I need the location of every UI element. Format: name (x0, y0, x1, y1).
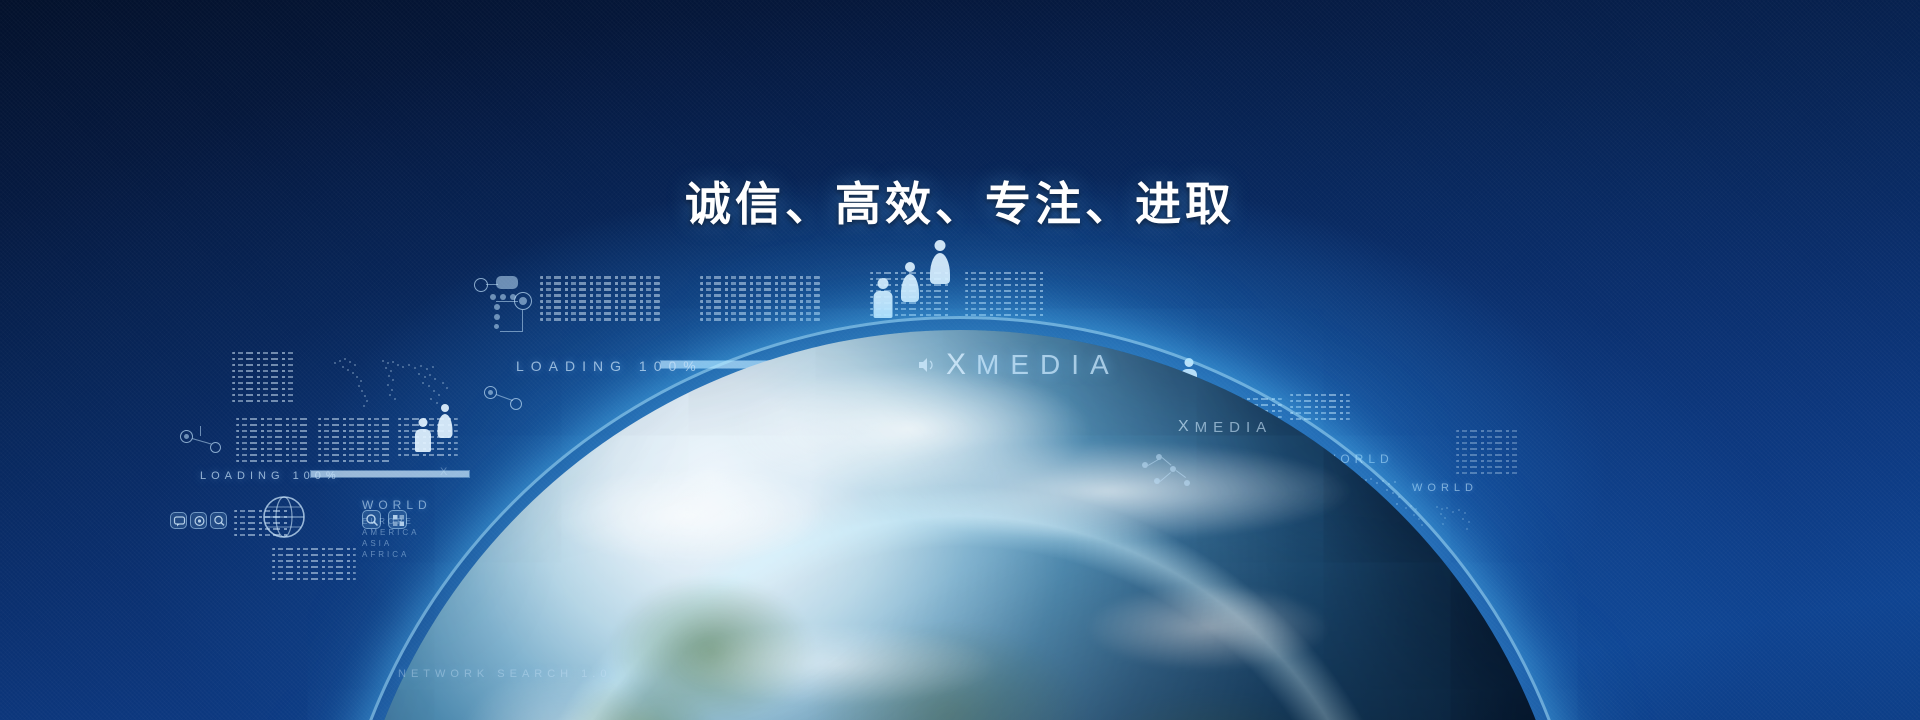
data-text-block (232, 352, 294, 412)
wire-globe-icon (262, 495, 306, 539)
media-brand: X MEDIA (918, 348, 1120, 382)
node-graph-icon (484, 382, 530, 418)
media-brand-mark: X (946, 348, 966, 382)
media-brand-small: X (440, 466, 452, 478)
media-brand-small-mark: X (440, 466, 452, 478)
page-title: 诚信、高效、专注、进取 (0, 168, 1920, 234)
data-text-block (540, 276, 660, 324)
node-graph-icon (470, 270, 540, 340)
hero-banner: 诚信、高效、专注、进取 LO (0, 0, 1920, 720)
loading-label-bottom: LOADING 100% (200, 470, 341, 482)
node-graph-icon (1140, 448, 1210, 508)
chat-bubble-icon[interactable] (170, 512, 187, 529)
media-brand-small-right: X MEDIA (1178, 418, 1272, 436)
loading-label-top: LOADING 100% (516, 358, 703, 374)
speaker-icon (918, 357, 936, 373)
search-icon[interactable] (210, 512, 227, 529)
media-brand-word: MEDIA (976, 349, 1120, 381)
network-search-label: NETWORK SEARCH 1.0 (398, 668, 611, 680)
node-graph-icon (180, 420, 232, 460)
data-text-block (236, 418, 308, 474)
media-brand-small-right-mark: X (1178, 418, 1189, 436)
media-brand-small-right-word: MEDIA (1195, 419, 1273, 436)
chat-bubble-icon[interactable] (190, 512, 207, 529)
